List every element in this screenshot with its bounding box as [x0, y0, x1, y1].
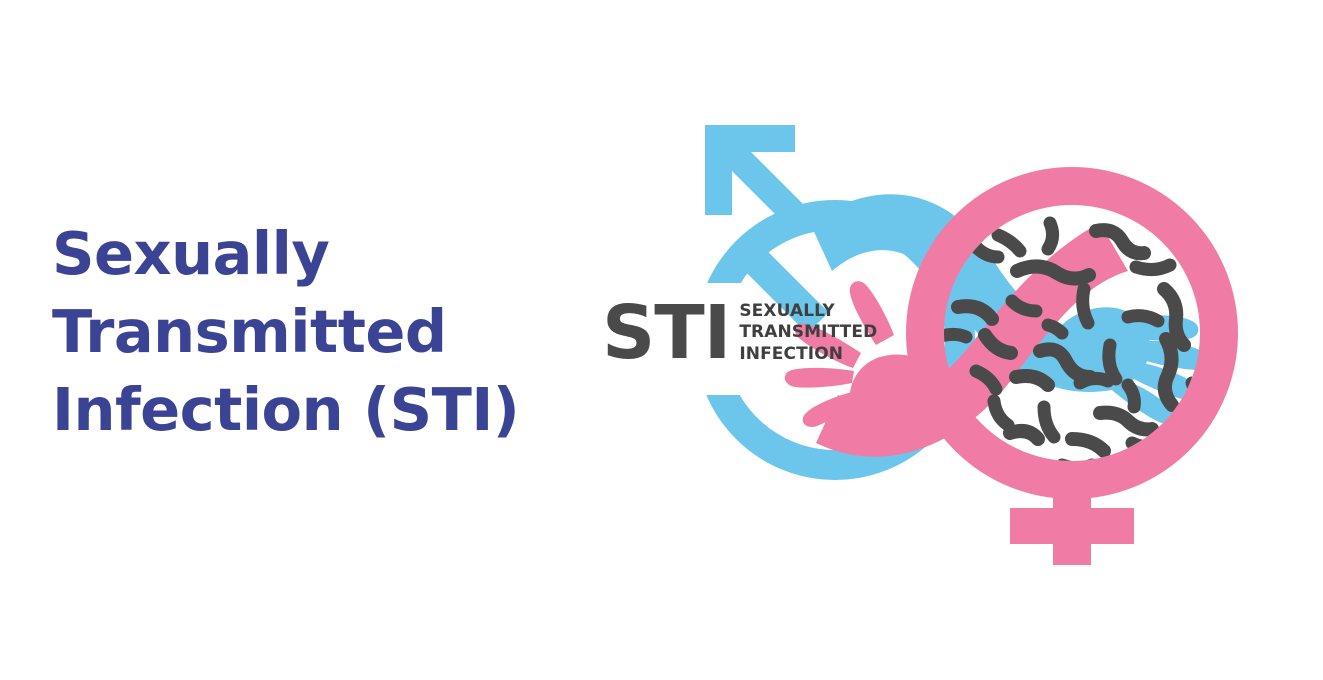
sti-acronym: STI — [602, 296, 730, 370]
sti-logo-lockup: STI SEXUALLY TRANSMITTED INFECTION — [602, 296, 877, 370]
page-title-line-2: Transmitted — [52, 293, 592, 371]
page-title-line-1: Sexually — [52, 215, 592, 293]
female-cross-bar — [1010, 508, 1134, 544]
sti-tagline: SEXUALLY TRANSMITTED INFECTION — [739, 301, 877, 366]
male-arrow-head — [705, 125, 805, 225]
page-title-line-3: Infection (STI) — [52, 371, 592, 449]
sti-tagline-line-2: TRANSMITTED — [739, 322, 877, 344]
page-title: Sexually Transmitted Infection (STI) — [52, 215, 592, 449]
sti-tagline-line-3: INFECTION — [739, 344, 877, 366]
sti-tagline-line-1: SEXUALLY — [739, 301, 877, 323]
poster-canvas: Sexually Transmitted Infection (STI) — [0, 0, 1323, 680]
